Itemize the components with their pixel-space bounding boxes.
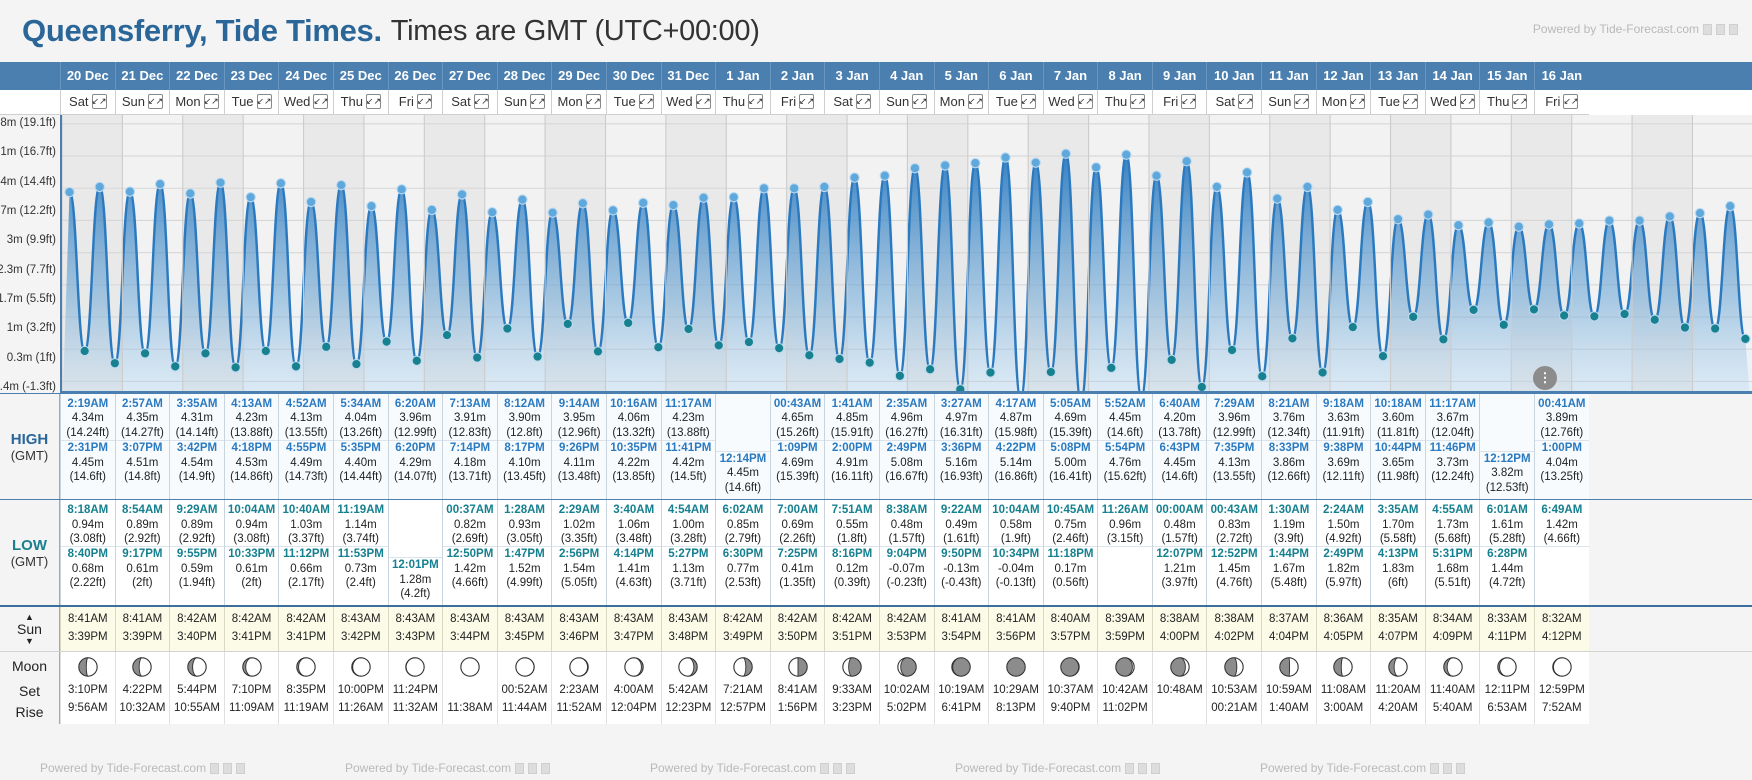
sunrise-time: 8:32AM [1535, 611, 1589, 628]
moon-setrise-cell: 10:42AM11:02PM [1097, 681, 1152, 724]
expand-icon[interactable]: ↙↗ [1403, 94, 1418, 109]
footer-watermark-label: Powered by Tide-Forecast.com [955, 761, 1121, 775]
tide-height-ft: (15.39ft) [1044, 426, 1098, 440]
y-axis-label: 3.7m (12.2ft) [0, 205, 56, 217]
expand-icon[interactable]: ↙↗ [912, 94, 927, 109]
sun-cell: 8:36AM4:05PM [1316, 607, 1371, 651]
weekday-cell: Sun↙↗ [879, 90, 934, 115]
tide-height-ft: (-0.13ft) [989, 576, 1043, 590]
tide-height-m: 0.69m [771, 518, 825, 532]
expand-icon[interactable]: ↙↗ [968, 94, 983, 109]
footer-watermark-icon [833, 763, 842, 774]
tide-time: 8:18AM [61, 503, 115, 517]
footer-watermark: Powered by Tide-Forecast.com [1260, 761, 1465, 775]
date-header-cell[interactable]: 20 Dec [60, 62, 115, 90]
moon-setrise-cell: 11:40AM5:40AM [1425, 681, 1480, 724]
expand-icon[interactable]: ↙↗ [1238, 94, 1253, 109]
date-header-cell[interactable]: 27 Dec [442, 62, 497, 90]
date-header-cell[interactable]: 1 Jan [715, 62, 770, 90]
tide-height-m: 4.53m [225, 456, 279, 470]
tide-height-ft: (4.72ft) [1480, 576, 1534, 590]
tide-height-m: 1.54m [552, 562, 606, 576]
sunset-arrow-icon: ▼ [25, 637, 34, 645]
tide-height-m: 1.52m [498, 562, 552, 576]
footer-watermark-icon [820, 763, 829, 774]
tide-height-ft: (14.44ft) [334, 470, 388, 484]
sunrise-time: 8:41AM [989, 611, 1043, 628]
sunrise-time: 8:36AM [1317, 611, 1371, 628]
tide-height-ft: (1.57ft) [1153, 532, 1207, 546]
tide-entry: 10:35PM4.22m(13.85ft) [607, 441, 661, 484]
expand-icon[interactable]: ↙↗ [257, 94, 272, 109]
footer-watermark-icon [846, 763, 855, 774]
sunset-time: 3:50PM [771, 629, 825, 646]
moon-phase-icon [186, 656, 208, 678]
tide-entry: 7:13AM3.91m(12.83ft) [443, 397, 497, 441]
tide-entry: 8:17PM4.10m(13.45ft) [498, 441, 552, 484]
moonset-time: 10:00PM [334, 682, 388, 700]
tide-time: 2:35AM [880, 397, 934, 411]
low-label: LOW [12, 537, 47, 554]
moonrise-time: 5:40AM [1426, 700, 1480, 718]
tide-time: 9:38PM [1317, 441, 1371, 455]
expand-icon[interactable]: ↙↗ [417, 94, 432, 109]
date-header-cell[interactable]: 9 Jan [1152, 62, 1207, 90]
moon-phase-icon [568, 656, 590, 678]
tide-time: 1:30AM [1262, 503, 1316, 517]
tide-time: 11:53PM [334, 547, 388, 561]
weekday-cell: Wed↙↗ [1043, 90, 1098, 115]
expand-icon[interactable]: ↙↗ [366, 94, 381, 109]
moon-phase-icon [896, 656, 918, 678]
tide-height-ft: (2.79ft) [716, 532, 770, 546]
tide-time: 8:16PM [825, 547, 879, 561]
tide-height-ft: (5.97ft) [1317, 576, 1371, 590]
tide-height-ft: (1.9ft) [989, 532, 1043, 546]
sun-cell: 8:41AM3:54PM [934, 607, 989, 651]
date-header-cell[interactable]: 14 Jan [1425, 62, 1480, 90]
moonrise-time: 00:21AM [1207, 700, 1261, 718]
tide-height-m: 1.67m [1262, 562, 1316, 576]
date-header-cell[interactable]: 4 Jan [879, 62, 934, 90]
tide-height-m: 4.20m [1153, 411, 1207, 425]
tide-height-ft: (3.08ft) [225, 532, 279, 546]
date-header-cell[interactable]: 5 Jan [934, 62, 989, 90]
moonrise-time: 1:56PM [771, 700, 825, 718]
y-axis-label: 1m (3.2ft) [7, 322, 56, 334]
tide-height-ft: (14.8ft) [116, 470, 170, 484]
footer-watermark-icon [210, 763, 219, 774]
sun-cell: 8:38AM4:00PM [1152, 607, 1207, 651]
sunrise-time: 8:43AM [443, 611, 497, 628]
tide-height-m: 4.06m [607, 411, 661, 425]
moonrise-time: 6:53AM [1480, 700, 1534, 718]
moon-phase-cell [1425, 652, 1480, 681]
setrise-label-cell: Set Rise [0, 681, 60, 724]
tide-entry: 4:18PM4.53m(14.86ft) [225, 441, 279, 484]
tide-time: 10:40AM [279, 503, 333, 517]
moon-setrise-cell: 10:59AM1:40AM [1261, 681, 1316, 724]
moon-phase-icon [1332, 656, 1354, 678]
tide-height-m: 3.96m [1207, 411, 1261, 425]
tide-time: 4:17AM [989, 397, 1043, 411]
moon-phase-icon [732, 656, 754, 678]
weekday-cell: Wed↙↗ [278, 90, 333, 115]
date-header-cell[interactable]: 7 Jan [1043, 62, 1098, 90]
moonrise-time: 11:52AM [552, 700, 606, 718]
y-axis-label: 5.1m (16.7ft) [0, 146, 56, 158]
expand-icon[interactable]: ↙↗ [1350, 94, 1365, 109]
moon-phase-cell [388, 652, 443, 681]
sun-cell: 8:43AM3:46PM [551, 607, 606, 651]
expand-icon[interactable]: ↙↗ [696, 94, 711, 109]
moon-setrise-cell: 10:02AM5:02PM [879, 681, 934, 724]
moonset-time: 11:40AM [1426, 682, 1480, 700]
date-header-cell[interactable]: 10 Jan [1206, 62, 1261, 90]
date-header-cell[interactable]: 22 Dec [169, 62, 224, 90]
moonset-time: 4:00AM [607, 682, 661, 700]
tide-height-m: 4.04m [1535, 456, 1589, 470]
date-header-cell[interactable]: 29 Dec [551, 62, 606, 90]
date-header-cell[interactable]: 11 Jan [1261, 62, 1316, 90]
weekday-label: Mon [557, 94, 582, 109]
date-header-cell[interactable]: 26 Dec [388, 62, 443, 90]
expand-icon[interactable]: ↙↗ [1021, 94, 1036, 109]
tide-entry: 3:35AM4.31m(14.14ft) [170, 397, 224, 441]
moon-setrise-cell: 8:35PM11:19AM [278, 681, 333, 724]
weekday-cell: Mon↙↗ [1316, 90, 1371, 115]
tide-height-ft: (3.71ft) [662, 576, 716, 590]
sunrise-time: 8:42AM [880, 611, 934, 628]
tide-height-m: 4.45m [716, 466, 770, 480]
moon-label: Moon [12, 658, 47, 674]
tide-entry: 9:26PM4.11m(13.48ft) [552, 441, 606, 484]
expand-icon[interactable]: ↙↗ [639, 94, 654, 109]
sunset-time: 3:39PM [116, 629, 170, 646]
date-header-cell[interactable]: 31 Dec [661, 62, 716, 90]
tide-cell: 7:29AM3.96m(12.99ft)7:35PM4.13m(13.55ft) [1206, 394, 1261, 499]
date-header-cell[interactable]: 23 Dec [224, 62, 279, 90]
date-header-cell[interactable]: 3 Jan [824, 62, 879, 90]
moon-phase-icon [787, 656, 809, 678]
tide-height-ft: (16.67ft) [880, 470, 934, 484]
date-header-cell[interactable]: 2 Jan [770, 62, 825, 90]
tide-entry: 2:31PM4.45m(14.6ft) [61, 441, 115, 484]
moonset-time: 2:23AM [552, 682, 606, 700]
moon-phase-icon [1114, 656, 1136, 678]
tide-height-ft: (13.25ft) [1535, 470, 1589, 484]
footer-watermark-icon [1443, 763, 1452, 774]
tide-height-ft: (12.99ft) [389, 426, 443, 440]
date-header-cell[interactable]: 25 Dec [333, 62, 388, 90]
tide-entry: 3:27AM4.97m(16.31ft) [935, 397, 989, 441]
tide-height-ft: (3.35ft) [552, 532, 606, 546]
tide-height-ft: (14.6ft) [716, 481, 770, 495]
tide-entry-empty [1098, 547, 1152, 601]
tide-height-m: 1.06m [607, 518, 661, 532]
moonrise-time: 5:02PM [880, 700, 934, 718]
date-header-cell[interactable]: 6 Jan [988, 62, 1043, 90]
scroll-handle-badge[interactable]: ⋮ [1533, 366, 1557, 390]
expand-icon[interactable]: ↙↗ [748, 94, 763, 109]
weekday-cell: Sat↙↗ [1206, 90, 1261, 115]
tide-height-m: 4.29m [389, 456, 443, 470]
weekday-label: Wed [1048, 94, 1075, 109]
tide-height-m: 0.77m [716, 562, 770, 576]
date-header-cell[interactable]: 24 Dec [278, 62, 333, 90]
sun-cell: 8:32AM4:12PM [1534, 607, 1589, 651]
y-axis-label: 2.3m (7.7ft) [0, 264, 56, 276]
moonrise-time: 12:57PM [716, 700, 770, 718]
date-header-cell[interactable]: 15 Jan [1479, 62, 1534, 90]
moon-setrise-cell: 2:23AM11:52AM [551, 681, 606, 724]
tide-height-m: 1.42m [1535, 518, 1589, 532]
sunrise-time: 8:43AM [498, 611, 552, 628]
moonset-time: 10:48AM [1153, 682, 1207, 700]
tide-time: 9:50PM [935, 547, 989, 561]
tide-time: 2:56PM [552, 547, 606, 561]
tide-height-m: 0.83m [1207, 518, 1261, 532]
tide-entry: 2:56PM1.54m(5.05ft) [552, 547, 606, 590]
moon-phase-cell [1206, 652, 1261, 681]
weekday-label: Tue [1378, 94, 1400, 109]
tide-time: 7:13AM [443, 397, 497, 411]
tide-entry: 5:54PM4.76m(15.62ft) [1098, 441, 1152, 484]
tide-cell: 9:18AM3.63m(11.91ft)9:38PM3.69m(12.11ft) [1316, 394, 1371, 499]
tide-time: 6:49AM [1535, 503, 1589, 517]
tide-height-m: 4.69m [771, 456, 825, 470]
tide-time: 1:47PM [498, 547, 552, 561]
tide-height-ft: (12.34ft) [1262, 426, 1316, 440]
tide-entry: 11:18PM0.17m(0.56ft) [1044, 547, 1098, 590]
moon-setrise-cell: 00:52AM11:44AM [497, 681, 552, 724]
tide-cell: 4:17AM4.87m(15.98ft)4:22PM5.14m(16.86ft) [988, 394, 1043, 499]
page-subtitle: Times are GMT (UTC+00:00) [391, 15, 760, 48]
sunset-time: 3:54PM [935, 629, 989, 646]
tide-height-ft: (12.11ft) [1317, 470, 1371, 484]
tide-entry: 1:00PM4.04m(13.25ft) [1535, 441, 1589, 484]
footer-watermark-label: Powered by Tide-Forecast.com [40, 761, 206, 775]
expand-icon[interactable]: ↙↗ [586, 94, 601, 109]
expand-icon[interactable]: ↙↗ [530, 94, 545, 109]
date-header-cell[interactable]: 28 Dec [497, 62, 552, 90]
tide-entry: 6:28PM1.44m(4.72ft) [1480, 547, 1534, 590]
tide-cell: 3:35AM4.31m(14.14ft)3:42PM4.54m(14.9ft) [169, 394, 224, 499]
tide-height-m: 4.45m [1098, 411, 1152, 425]
tide-cell: 4:13AM4.23m(13.88ft)4:18PM4.53m(14.86ft) [224, 394, 279, 499]
sun-row: ▲ Sun ▼ 8:41AM3:39PM8:41AM3:39PM8:42AM3:… [0, 605, 1752, 651]
tide-height-m: 4.22m [607, 456, 661, 470]
tide-height-ft: (4.92ft) [1317, 532, 1371, 546]
expand-icon[interactable]: ↙↗ [1294, 94, 1309, 109]
tide-entry: 9:14AM3.95m(12.96ft) [552, 397, 606, 441]
sunset-time: 3:46PM [552, 629, 606, 646]
moon-phase-cell [770, 652, 825, 681]
tide-height-m: 1.45m [1207, 562, 1261, 576]
moon-label-cell: Moon [0, 652, 60, 681]
sunset-time: 4:02PM [1207, 629, 1261, 646]
tide-entry: 00:37AM0.82m(2.69ft) [443, 503, 497, 547]
tide-time: 2:49PM [880, 441, 934, 455]
tide-time: 3:36PM [935, 441, 989, 455]
tide-plot-area[interactable] [60, 115, 1752, 393]
tide-entry: 12:12PM3.82m(12.53ft) [1480, 452, 1534, 495]
tide-time: 4:52AM [279, 397, 333, 411]
footer-watermark-icon [1138, 763, 1147, 774]
sunrise-time: 8:37AM [1262, 611, 1316, 628]
weekday-label: Fri [781, 94, 796, 109]
expand-icon[interactable]: ↙↗ [856, 94, 871, 109]
tide-time: 2:00PM [825, 441, 879, 455]
sun-cell: 8:34AM4:09PM [1425, 607, 1480, 651]
tide-time: 1:09PM [771, 441, 825, 455]
tide-time: 9:22AM [935, 503, 989, 517]
sunset-time: 3:40PM [170, 629, 224, 646]
sunrise-time: 8:41AM [61, 611, 115, 628]
weekday-label: Fri [1545, 94, 1560, 109]
tide-height-ft: (2.72ft) [1207, 532, 1261, 546]
tide-time: 1:41AM [825, 397, 879, 411]
tide-time: 11:18PM [1044, 547, 1098, 561]
high-tide-section: HIGH (GMT) 2:19AM4.34m(14.24ft)2:31PM4.4… [0, 393, 1752, 499]
sun-cell: 8:42AM3:53PM [879, 607, 934, 651]
sunrise-time: 8:42AM [716, 611, 770, 628]
tide-time: 3:42PM [170, 441, 224, 455]
tide-cell: 8:54AM0.89m(2.92ft)9:17PM0.61m(2ft) [115, 500, 170, 605]
tide-cell: 6:49AM1.42m(4.66ft) [1534, 500, 1589, 605]
expand-icon[interactable]: ↙↗ [1563, 94, 1578, 109]
moon-setrise-cell: 10:00PM11:26AM [333, 681, 388, 724]
tide-height-m: 4.18m [443, 456, 497, 470]
moon-phase-icon [1496, 656, 1518, 678]
expand-icon[interactable]: ↙↗ [92, 94, 107, 109]
expand-icon[interactable]: ↙↗ [148, 94, 163, 109]
tide-height-ft: (13.55ft) [279, 426, 333, 440]
tide-height-ft: (1.35ft) [771, 576, 825, 590]
tide-height-ft: (5.05ft) [552, 576, 606, 590]
tide-time: 11:17AM [662, 397, 716, 411]
date-header-cell[interactable]: 12 Jan [1316, 62, 1371, 90]
date-header-cell[interactable]: 13 Jan [1370, 62, 1425, 90]
tide-height-ft: (6ft) [1371, 576, 1425, 590]
y-axis: 5.8m (19.1ft)5.1m (16.7ft)4.4m (14.4ft)3… [0, 115, 60, 393]
date-header-cell[interactable]: 8 Jan [1097, 62, 1152, 90]
tide-entry: 2:49PM5.08m(16.67ft) [880, 441, 934, 484]
weekday-cell: Sat↙↗ [442, 90, 497, 115]
moon-setrise-cell: 10:19AM6:41PM [934, 681, 989, 724]
moon-phase-cell [169, 652, 224, 681]
expand-icon[interactable]: ↙↗ [204, 94, 219, 109]
moon-phase-icon [77, 656, 99, 678]
sun-cell: 8:43AM3:48PM [661, 607, 716, 651]
tide-entry-empty [716, 397, 770, 452]
sunset-time: 4:05PM [1317, 629, 1371, 646]
tide-entry: 6:43PM4.45m(14.6ft) [1153, 441, 1207, 484]
weekday-cell: Sat↙↗ [824, 90, 879, 115]
expand-icon[interactable]: ↙↗ [1130, 94, 1145, 109]
date-header-cell[interactable]: 30 Dec [606, 62, 661, 90]
y-axis-label: -0.4m (-1.3ft) [0, 381, 56, 393]
sunrise-time: 8:43AM [552, 611, 606, 628]
tide-height-m: 4.04m [334, 411, 388, 425]
tide-cell: 12:14PM4.45m(14.6ft) [715, 394, 770, 499]
tide-cell: 11:17AM3.67m(12.04ft)11:46PM3.73m(12.24f… [1425, 394, 1480, 499]
sun-cell: 8:35AM4:07PM [1370, 607, 1425, 651]
tide-height-ft: (2.53ft) [716, 576, 770, 590]
tide-height-m: 0.82m [443, 518, 497, 532]
moonset-time: 7:10PM [225, 682, 279, 700]
tide-height-m: 4.45m [61, 456, 115, 470]
tide-entry: 8:54AM0.89m(2.92ft) [116, 503, 170, 547]
date-header-cell[interactable]: 16 Jan [1534, 62, 1589, 90]
tide-time: 11:17AM [1426, 397, 1480, 411]
expand-icon[interactable]: ↙↗ [313, 94, 328, 109]
tide-height-ft: (15.91ft) [825, 426, 879, 440]
tide-entry: 1:09PM4.69m(15.39ft) [771, 441, 825, 484]
tide-height-m: 0.58m [989, 518, 1043, 532]
tide-entry: 7:29AM3.96m(12.99ft) [1207, 397, 1261, 441]
tide-height-m: 1.83m [1371, 562, 1425, 576]
sunset-time: 3:41PM [279, 629, 333, 646]
tide-entry: 5:31PM1.68m(5.51ft) [1426, 547, 1480, 590]
sunset-time: 3:57PM [1044, 629, 1098, 646]
sun-cell: 8:42AM3:49PM [715, 607, 770, 651]
tide-entry: 12:01PM1.28m(4.2ft) [389, 558, 443, 601]
tide-height-m: 0.17m [1044, 562, 1098, 576]
weekday-label: Fri [399, 94, 414, 109]
expand-icon[interactable]: ↙↗ [799, 94, 814, 109]
moonset-time: 7:21AM [716, 682, 770, 700]
tide-entry: 9:18AM3.63m(11.91ft) [1317, 397, 1371, 441]
tide-entry: 2:29AM1.02m(3.35ft) [552, 503, 606, 547]
tide-entry: 9:04PM-0.07m(-0.23ft) [880, 547, 934, 590]
tide-height-ft: (2ft) [225, 576, 279, 590]
moonrise-time: 12:23PM [662, 700, 716, 718]
expand-icon[interactable]: ↙↗ [1512, 94, 1527, 109]
moonrise-time: 1:40AM [1262, 700, 1316, 718]
tide-cell: 2:29AM1.02m(3.35ft)2:56PM1.54m(5.05ft) [551, 500, 606, 605]
footer-watermark-icon [236, 763, 245, 774]
high-tide-block: HIGH (GMT) 2:19AM4.34m(14.24ft)2:31PM4.4… [0, 394, 1752, 499]
expand-icon[interactable]: ↙↗ [1460, 94, 1475, 109]
expand-icon[interactable]: ↙↗ [1181, 94, 1196, 109]
sun-cell: 8:43AM3:43PM [388, 607, 443, 651]
tide-entry: 11:53PM0.73m(2.4ft) [334, 547, 388, 590]
tide-time: 1:00PM [1535, 441, 1589, 455]
low-tide-section: LOW (GMT) 8:18AM0.94m(3.08ft)8:40PM0.68m… [0, 499, 1752, 605]
sunset-time: 3:56PM [989, 629, 1043, 646]
tide-height-m: 4.96m [880, 411, 934, 425]
moonset-time: 11:24PM [389, 682, 443, 700]
weekday-label: Sat [451, 94, 471, 109]
tide-height-ft: (12.24ft) [1426, 470, 1480, 484]
tide-height-m: 0.73m [334, 562, 388, 576]
date-header-cell[interactable]: 21 Dec [115, 62, 170, 90]
tide-height-m: 5.14m [989, 456, 1043, 470]
tide-time: 8:33PM [1262, 441, 1316, 455]
moon-setrise-cell: 10:48AM [1152, 681, 1207, 724]
expand-icon[interactable]: ↙↗ [474, 94, 489, 109]
sunset-time: 3:42PM [334, 629, 388, 646]
tide-height-ft: (13.85ft) [607, 470, 661, 484]
tide-height-ft: (-0.43ft) [935, 576, 989, 590]
sun-cell: 8:41AM3:39PM [115, 607, 170, 651]
y-axis-label: 0.3m (1ft) [7, 352, 56, 364]
expand-icon[interactable]: ↙↗ [1078, 94, 1093, 109]
weekday-label: Sun [1268, 94, 1291, 109]
tide-height-ft: (1.57ft) [880, 532, 934, 546]
tide-height-m: 1.28m [389, 573, 443, 587]
